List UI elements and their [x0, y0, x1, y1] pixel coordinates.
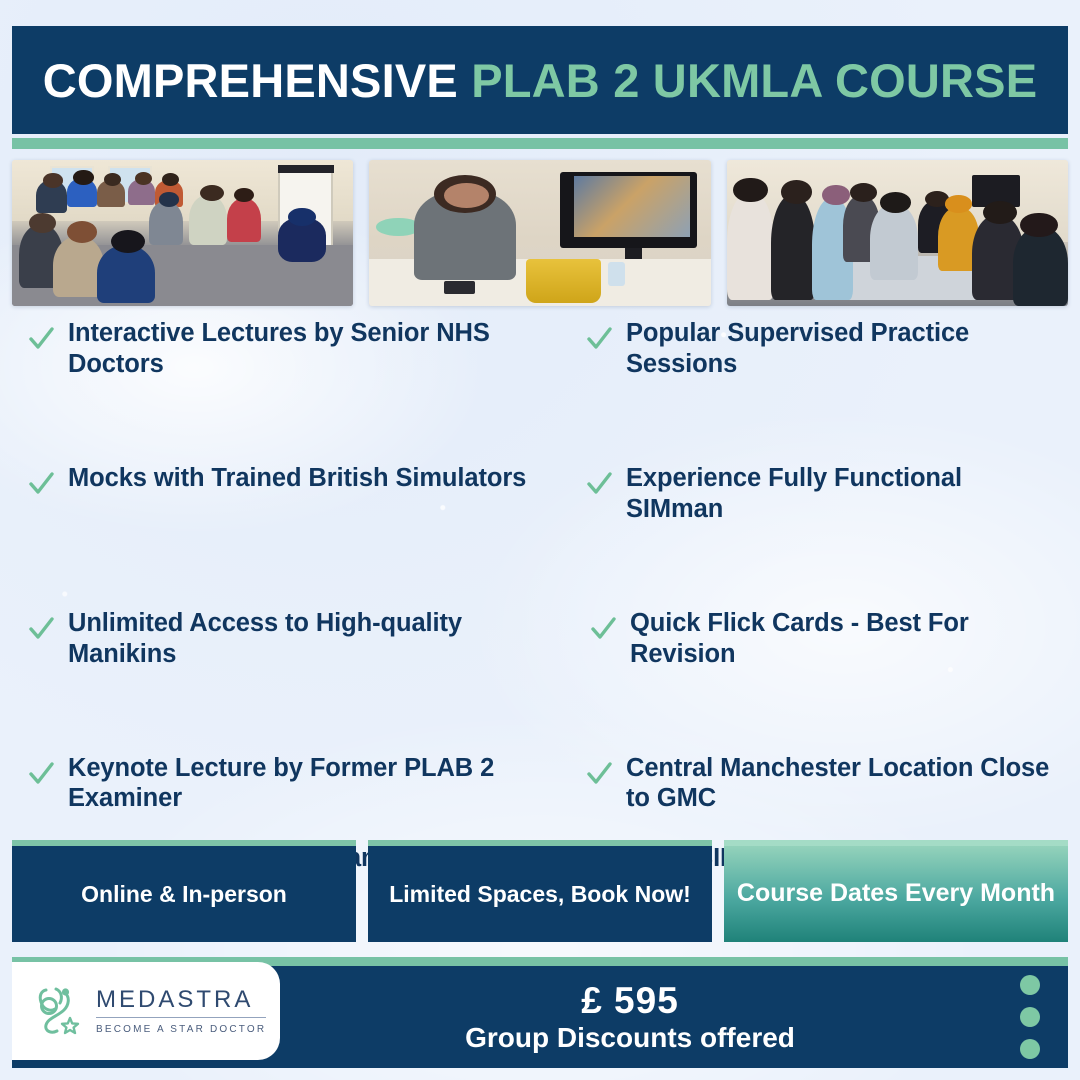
check-icon: [28, 614, 54, 644]
feature-item-interactive-lectures: Interactive Lectures by Senior NHS Docto…: [12, 318, 540, 379]
header-accent-rule: [12, 138, 1068, 149]
simulation-monitor-photo: [369, 160, 710, 306]
price-subtitle: Group Discounts offered: [465, 1022, 795, 1054]
check-icon: [28, 469, 54, 499]
brand-tagline: BECOME A STAR DOCTOR: [96, 1018, 266, 1035]
cta-limited-spaces[interactable]: Limited Spaces, Book Now!: [368, 840, 712, 942]
feature-item-keynote-lecture: Keynote Lecture by Former PLAB 2 Examine…: [12, 753, 540, 814]
cta-row: Online & In-person Limited Spaces, Book …: [12, 840, 1068, 942]
photo-gallery: [12, 160, 1068, 306]
feature-list: Interactive Lectures by Senior NHS Docto…: [12, 318, 1068, 879]
feature-label: Quick Flick Cards - Best For Revision: [630, 608, 1064, 669]
decorative-dots: [1020, 975, 1040, 1059]
feature-item-supervised-practice: Popular Supervised Practice Sessions: [540, 318, 1068, 379]
dot-icon: [1020, 1007, 1040, 1027]
stethoscope-star-icon: [34, 984, 86, 1038]
header-band: COMPREHENSIVE PLAB 2 UKMLA COURSE: [12, 26, 1068, 134]
price-amount: £ 595: [581, 980, 679, 1021]
feature-label: Experience Fully Functional SIMman: [626, 463, 1064, 524]
feature-label: Unlimited Access to High-quality Manikin…: [68, 608, 536, 669]
feature-row: Interactive Lectures by Senior NHS Docto…: [12, 318, 1068, 379]
feature-item-manchester-location: Central Manchester Location Close to GMC: [540, 753, 1068, 814]
feature-label: Keynote Lecture by Former PLAB 2 Examine…: [68, 753, 536, 814]
check-icon: [28, 759, 54, 789]
cta-label: Limited Spaces, Book Now!: [389, 880, 691, 909]
cta-online-in-person[interactable]: Online & In-person: [12, 840, 356, 942]
brand-logo[interactable]: MEDASTRA BECOME A STAR DOCTOR: [12, 962, 280, 1060]
check-icon: [590, 614, 616, 644]
footer-band: MEDASTRA BECOME A STAR DOCTOR £ 595 Grou…: [12, 966, 1068, 1068]
title-white-part: COMPREHENSIVE: [43, 54, 458, 107]
cta-course-dates[interactable]: Course Dates Every Month: [724, 840, 1068, 942]
feature-row: Mocks with Trained British Simulators Ex…: [12, 463, 1068, 524]
check-icon: [586, 759, 612, 789]
cta-label: Course Dates Every Month: [737, 878, 1055, 909]
feature-row: Keynote Lecture by Former PLAB 2 Examine…: [12, 753, 1068, 814]
page-title: COMPREHENSIVE PLAB 2 UKMLA COURSE: [43, 57, 1038, 104]
feature-label: Mocks with Trained British Simulators: [68, 463, 526, 494]
feature-row: Unlimited Access to High-quality Manikin…: [12, 608, 1068, 669]
feature-label: Interactive Lectures by Senior NHS Docto…: [68, 318, 536, 379]
check-icon: [586, 469, 612, 499]
cta-label: Online & In-person: [81, 880, 287, 909]
feature-item-quick-flick-cards: Quick Flick Cards - Best For Revision: [540, 608, 1068, 669]
dot-icon: [1020, 1039, 1040, 1059]
title-green-part: PLAB 2 UKMLA COURSE: [471, 54, 1037, 107]
feature-item-unlimited-manikins: Unlimited Access to High-quality Manikin…: [12, 608, 540, 669]
feature-label: Popular Supervised Practice Sessions: [626, 318, 1064, 379]
feature-label: Central Manchester Location Close to GMC: [626, 753, 1064, 814]
feature-item-mocks-simulators: Mocks with Trained British Simulators: [12, 463, 540, 524]
manikin-practice-photo: [727, 160, 1068, 306]
dot-icon: [1020, 975, 1040, 995]
brand-name: MEDASTRA: [96, 988, 266, 1018]
classroom-lecture-photo: [12, 160, 353, 306]
price-block: £ 595 Group Discounts offered: [280, 966, 980, 1068]
course-poster: COMPREHENSIVE PLAB 2 UKMLA COURSE: [0, 0, 1080, 1080]
check-icon: [28, 324, 54, 354]
feature-item-functional-simman: Experience Fully Functional SIMman: [540, 463, 1068, 524]
check-icon: [586, 324, 612, 354]
